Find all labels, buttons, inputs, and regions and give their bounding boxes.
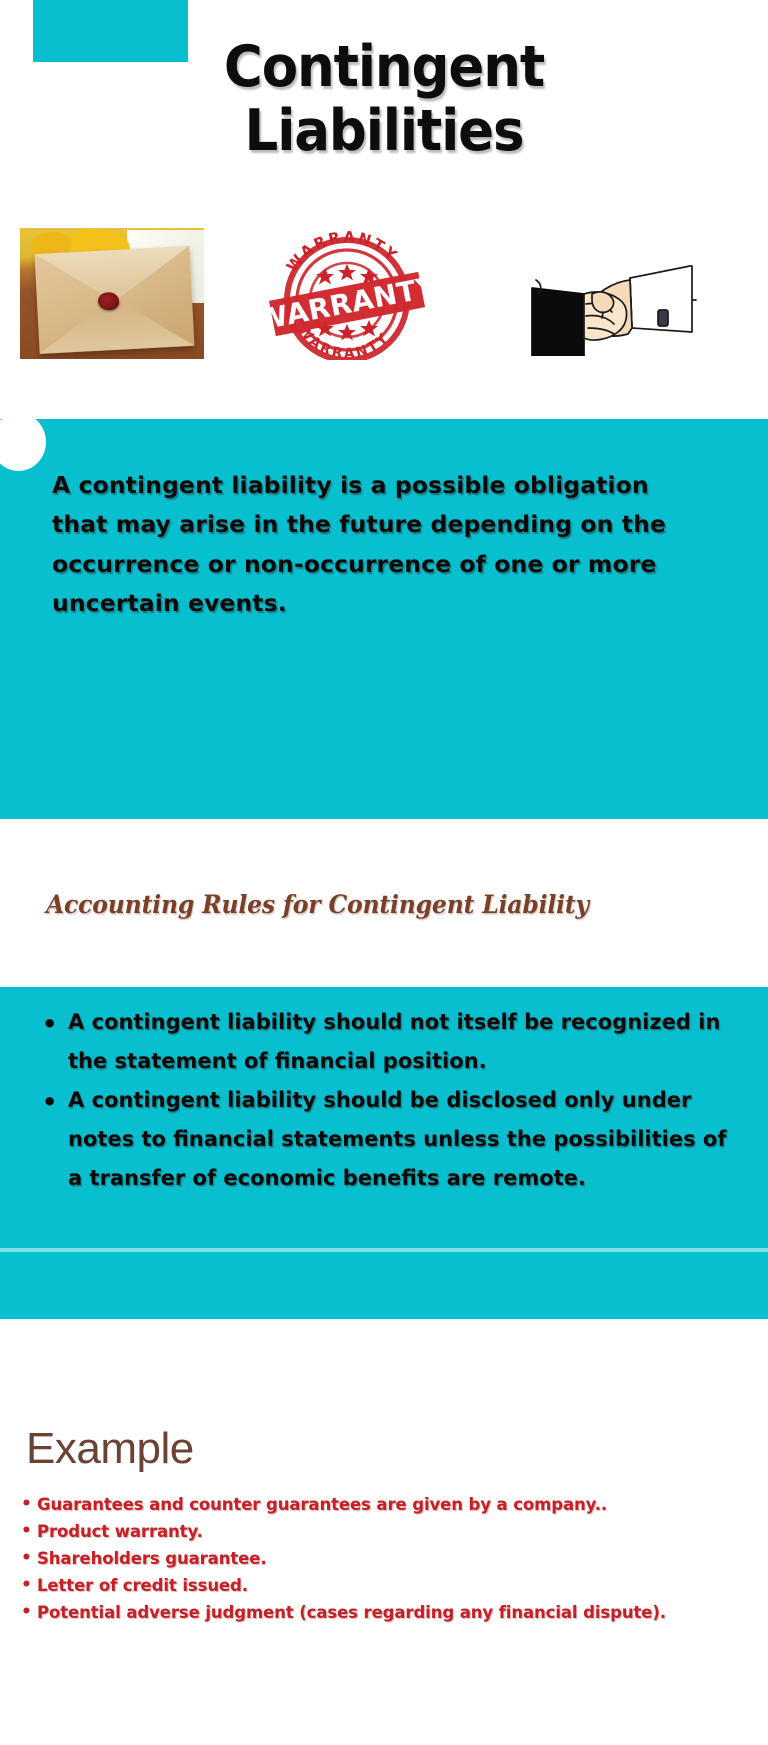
page-title: Contingent Liabilities <box>27 36 741 164</box>
list-item: Shareholders guarantee. <box>12 1546 752 1573</box>
list-item: Letter of credit issued. <box>12 1573 752 1600</box>
accounting-rules-panel-lower <box>0 1252 768 1319</box>
definition-panel: A contingent liability is a possible obl… <box>0 419 768 819</box>
example-list: Guarantees and counter guarantees are gi… <box>12 1492 752 1626</box>
envelope-photo <box>20 228 204 359</box>
example-heading: Example <box>26 1424 194 1474</box>
accounting-rules-panel: A contingent liability should not itself… <box>0 987 768 1251</box>
image-strip: WARRANTY WARRANTY WARRANTY <box>0 222 768 360</box>
definition-text: A contingent liability is a possible obl… <box>52 466 700 624</box>
list-item: Product warranty. <box>12 1519 752 1546</box>
list-item: Potential adverse judgment (cases regard… <box>12 1600 752 1627</box>
list-item: A contingent liability should not itself… <box>38 1003 728 1081</box>
warranty-stamp: WARRANTY WARRANTY WARRANTY <box>263 222 431 360</box>
list-item: Guarantees and counter guarantees are gi… <box>12 1492 752 1519</box>
accounting-rules-list: A contingent liability should not itself… <box>38 1003 728 1198</box>
white-circle-accent <box>0 413 46 471</box>
envelope-icon <box>34 246 194 353</box>
page-title-line-1: Contingent <box>27 36 741 100</box>
accounting-rules-heading: Accounting Rules for Contingent Liabilit… <box>46 890 704 919</box>
list-item: A contingent liability should be disclos… <box>38 1081 728 1198</box>
wax-seal-icon <box>97 292 119 311</box>
handshake-illustration <box>480 232 698 356</box>
title-area: Contingent Liabilities <box>0 0 768 200</box>
page-title-line-2: Liabilities <box>27 100 741 164</box>
